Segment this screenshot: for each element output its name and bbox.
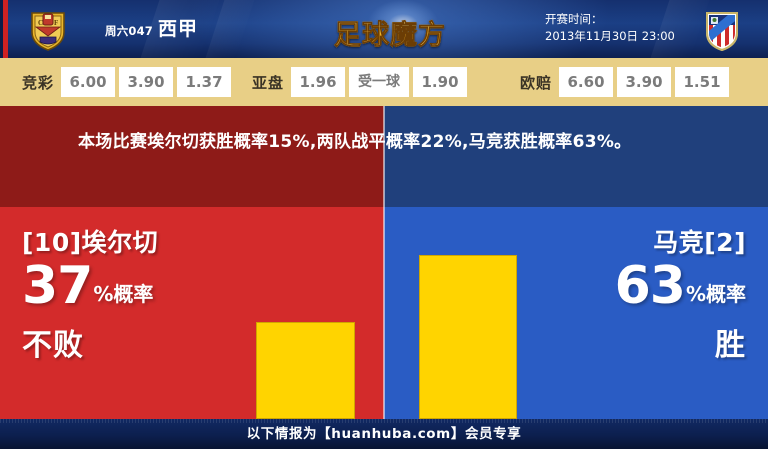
odds-bar: 竞彩 6.00 3.90 1.37 亚盘 1.96 受一球 1.90 欧赔 6.… <box>0 58 768 106</box>
odds-bar-inner: 竞彩 6.00 3.90 1.37 亚盘 1.96 受一球 1.90 欧赔 6.… <box>0 61 768 103</box>
away-verdict: 胜 <box>496 328 746 364</box>
odds-cell-away[interactable]: 1.51 <box>675 67 729 97</box>
odds-cell-draw[interactable]: 3.90 <box>617 67 671 97</box>
odds-cell-away[interactable]: 1.37 <box>177 67 231 97</box>
svg-text:F: F <box>54 19 58 27</box>
odds-cell-home[interactable]: 6.60 <box>559 67 613 97</box>
home-probability-value: 37 <box>22 256 92 316</box>
home-verdict: 不败 <box>22 328 272 364</box>
kickoff-value: 2013年11月30日 23:00 <box>545 28 675 45</box>
home-probability: 37%概率 <box>22 262 272 320</box>
odds-cell-home[interactable]: 1.96 <box>291 67 345 97</box>
match-league-label: 西甲 <box>158 18 198 40</box>
footer-bar: 以下情报为【huanhuba.com】会员专享 <box>0 419 768 449</box>
probability-panel: 本场比赛埃尔切获胜概率15%,两队战平概率22%,马竞获胜概率63%。 [10]… <box>0 106 768 419</box>
away-probability: 63%概率 <box>496 262 746 320</box>
home-band-top <box>0 106 384 207</box>
odds-group-yapan: 亚盘 1.96 受一球 1.90 <box>252 61 467 103</box>
brand-logo-text: 足球魔方 <box>334 13 446 52</box>
svg-text:C: C <box>38 19 43 27</box>
home-team-block: [10]埃尔切 37%概率 不败 <box>22 228 272 364</box>
match-probability-infographic: C F 周六047西甲 足球魔方 开赛时间： 2013年11月30日 23:00 <box>0 0 768 449</box>
home-team-name: [10]埃尔切 <box>22 228 272 258</box>
atletico-madrid-crest-icon <box>700 8 744 52</box>
home-probability-unit: %概率 <box>93 282 153 306</box>
match-title: 周六047西甲 <box>105 14 198 41</box>
away-team-block: 马竞[2] 63%概率 胜 <box>496 228 746 364</box>
odds-group-title: 亚盘 <box>252 72 284 93</box>
away-probability-unit: %概率 <box>686 282 746 306</box>
away-probability-value: 63 <box>615 256 685 316</box>
headline-summary: 本场比赛埃尔切获胜概率15%,两队战平概率22%,马竞获胜概率63%。 <box>78 128 698 156</box>
brand-logo[interactable]: 足球魔方 <box>322 4 468 54</box>
header-red-accent-stripe <box>3 0 8 58</box>
elche-crest-icon: C F <box>26 8 70 52</box>
odds-cell-handicap[interactable]: 受一球 <box>349 67 409 97</box>
odds-group-title: 欧赔 <box>520 72 552 93</box>
kickoff-time: 开赛时间： 2013年11月30日 23:00 <box>545 11 675 45</box>
odds-cell-draw[interactable]: 3.90 <box>119 67 173 97</box>
footer-text: 以下情报为【huanhuba.com】会员专享 <box>0 419 768 449</box>
odds-cell-home[interactable]: 6.00 <box>61 67 115 97</box>
odds-cell-away[interactable]: 1.90 <box>413 67 467 97</box>
header-bar: C F 周六047西甲 足球魔方 开赛时间： 2013年11月30日 23:00 <box>0 0 768 58</box>
match-round-label: 周六047 <box>105 24 153 38</box>
odds-group-title: 竞彩 <box>22 72 54 93</box>
away-band-top <box>384 106 768 207</box>
odds-group-jingcai: 竞彩 6.00 3.90 1.37 <box>22 61 231 103</box>
odds-group-oupei: 欧赔 6.60 3.90 1.51 <box>520 61 729 103</box>
kickoff-label: 开赛时间： <box>545 11 675 28</box>
away-team-name: 马竞[2] <box>496 228 746 258</box>
